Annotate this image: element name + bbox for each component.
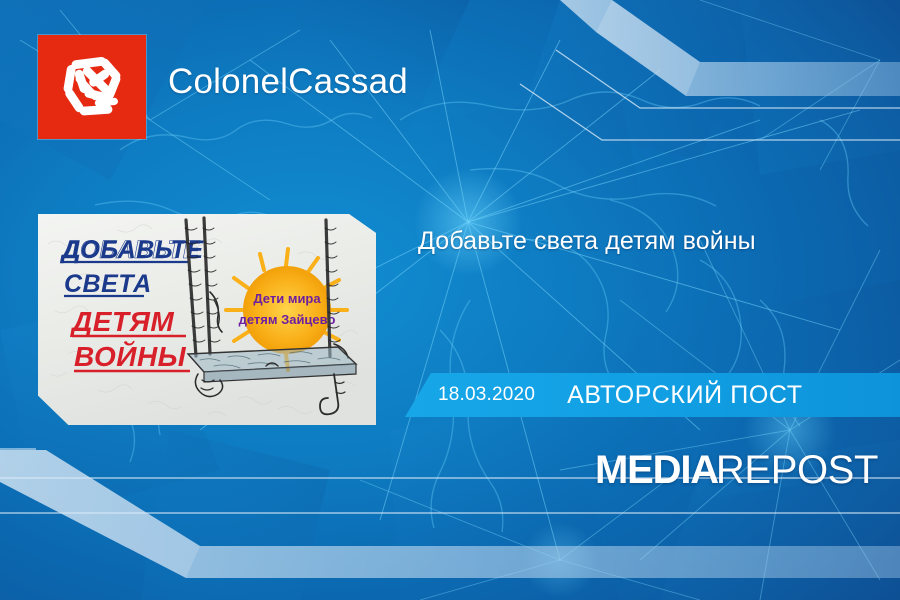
- thumb-headline-2: СВЕТА: [64, 270, 152, 298]
- thumb-headline-3: ДЕТЯМ: [70, 306, 174, 337]
- mediarepost-brand[interactable]: MEDIA REPOST: [595, 448, 878, 493]
- livejournal-chain-icon: [51, 47, 133, 127]
- post-date: 18.03.2020: [438, 384, 535, 406]
- post-meta-banner: 18.03.2020 АВТОРСКИЙ ПОСТ: [405, 373, 900, 417]
- post-thumbnail[interactable]: ДОБАВЬТЕ ДОБАВЬТЕ СВЕТА ДЕТЯМ ВОЙНЫ: [38, 214, 376, 425]
- post-kind-label: АВТОРСКИЙ ПОСТ: [567, 381, 802, 410]
- thumbnail-artwork: ДОБАВЬТЕ ДОБАВЬТЕ СВЕТА ДЕТЯМ ВОЙНЫ: [38, 214, 376, 425]
- thumb-headline-4: ВОЙНЫ: [74, 340, 187, 372]
- colonelcassad-logo[interactable]: [38, 35, 146, 139]
- sun-text-line-2: детям Зайцево: [239, 312, 336, 327]
- poster-canvas: ColonelCassad: [0, 0, 900, 600]
- svg-text:ДОБАВЬТЕ: ДОБАВЬТЕ: [60, 236, 201, 264]
- sun-text-line-1: Дети мира: [253, 291, 321, 306]
- site-title: ColonelCassad: [168, 62, 408, 102]
- post-title: Добавьте света детям войны: [418, 226, 878, 257]
- brand-bold-part: MEDIA: [595, 448, 718, 493]
- brand-light-part: REPOST: [716, 448, 878, 493]
